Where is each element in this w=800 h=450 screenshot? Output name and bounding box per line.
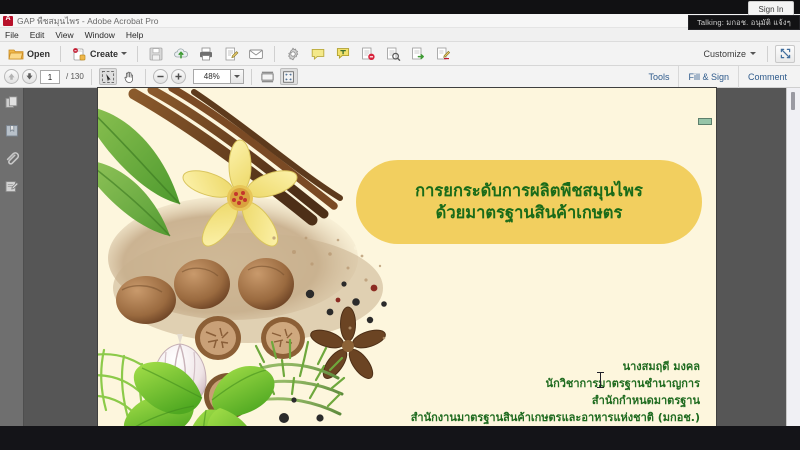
page-total-label: / 130	[66, 72, 84, 81]
search-redact-button[interactable]	[382, 44, 404, 64]
slide-title-line-1: การยกระดับการผลิตพืชสมุนไพร	[415, 182, 643, 201]
fit-width-button[interactable]	[259, 68, 277, 85]
window-title: GAP พืชสมุนไพร - Adobe Acrobat Pro	[17, 14, 158, 28]
tools-pane-button[interactable]: Tools	[639, 66, 678, 88]
create-pdf-icon	[71, 46, 87, 62]
os-top-bar	[0, 0, 800, 14]
select-tool-button[interactable]	[99, 68, 117, 85]
scrollbar-thumb[interactable]	[791, 92, 795, 110]
acrobat-body: การยกระดับการผลิตพืชสมุนไพร ด้วยมาตรฐานส…	[0, 88, 800, 426]
customize-label: Customize	[703, 49, 746, 59]
minus-icon	[156, 72, 165, 81]
next-page-button[interactable]	[22, 69, 37, 84]
bookmarks-icon[interactable]	[4, 123, 20, 139]
page-navigation-toolbar: 1 / 130	[0, 66, 800, 88]
folder-open-icon	[8, 46, 24, 62]
menu-item-file[interactable]: File	[5, 30, 19, 40]
fit-page-width-icon	[260, 70, 275, 84]
attachments-icon[interactable]	[4, 151, 20, 167]
stamp-icon	[360, 46, 376, 62]
export-button[interactable]	[407, 44, 429, 64]
edit-pdf-icon	[223, 46, 239, 62]
herbs-and-spices-illustration	[98, 88, 398, 436]
create-button[interactable]: Create	[68, 44, 130, 64]
hand-icon	[122, 70, 136, 84]
author-organization: สำนักงานมาตรฐานสินค้าเกษตรและอาหารแห่งชา…	[411, 409, 700, 426]
comment-pane-button[interactable]: Comment	[738, 66, 796, 88]
settings-button[interactable]	[282, 44, 304, 64]
create-button-label: Create	[90, 49, 118, 59]
author-name: นางสมฤดี มงคล	[411, 358, 700, 375]
toolbar-separator	[767, 46, 768, 62]
toolbar-separator	[251, 69, 252, 85]
email-button[interactable]	[245, 44, 267, 64]
comment-bubble-button[interactable]	[307, 44, 329, 64]
highlight-text-button[interactable]	[332, 44, 354, 64]
fit-page-button[interactable]	[280, 68, 298, 85]
zoom-in-button[interactable]	[171, 69, 186, 84]
navigation-pane	[0, 88, 24, 426]
chevron-down-icon	[750, 52, 756, 55]
stamp-button[interactable]	[357, 44, 379, 64]
search-redact-icon	[385, 46, 401, 62]
chevron-down-icon	[121, 52, 127, 55]
menu-bar: File Edit View Window Help	[0, 28, 800, 42]
hand-tool-button[interactable]	[120, 68, 138, 85]
open-button[interactable]: Open	[5, 44, 53, 64]
sign-icon	[435, 46, 451, 62]
vertical-scrollbar[interactable]	[786, 88, 800, 426]
menu-item-view[interactable]: View	[55, 30, 73, 40]
zoom-out-button[interactable]	[153, 69, 168, 84]
plus-icon	[174, 72, 183, 81]
page-number-input[interactable]: 1	[40, 70, 60, 84]
author-position: นักวิชาการมาตรฐานชำนาญการ	[411, 375, 700, 392]
toolbar-separator	[274, 46, 275, 62]
page-thumbnails-icon[interactable]	[4, 95, 20, 111]
highlight-text-icon	[335, 46, 351, 62]
toolbar-separator	[137, 46, 138, 62]
author-department: สำนักกำหนดมาตรฐาน	[411, 392, 700, 409]
pdf-page: การยกระดับการผลิตพืชสมุนไพร ด้วยมาตรฐานส…	[98, 88, 716, 436]
menu-item-help[interactable]: Help	[126, 30, 143, 40]
screen-root: Sign In Talking: มกอช. อนุมัติ แจ้งๆ GAP…	[0, 0, 800, 450]
fill-and-sign-pane-button[interactable]: Fill & Sign	[678, 66, 738, 88]
toolbar-separator	[60, 46, 61, 62]
main-toolbar: Open Create	[0, 42, 800, 66]
fit-whole-page-icon	[281, 70, 296, 84]
previous-page-button[interactable]	[4, 69, 19, 84]
menu-item-edit[interactable]: Edit	[30, 30, 45, 40]
save-button[interactable]	[145, 44, 167, 64]
expand-toolbar-button[interactable]	[775, 45, 795, 63]
comment-bubble-icon	[310, 46, 326, 62]
slide-title-plate: การยกระดับการผลิตพืชสมุนไพร ด้วยมาตรฐานส…	[356, 160, 702, 244]
acrobat-window: GAP พืชสมุนไพร - Adobe Acrobat Pro File …	[0, 14, 800, 426]
slide-author-block: นางสมฤดี มงคล นักวิชาการมาตรฐานชำนาญการ …	[411, 358, 700, 426]
signatures-icon[interactable]	[4, 179, 20, 195]
menu-item-window[interactable]: Window	[85, 30, 115, 40]
acrobat-logo-icon	[3, 16, 13, 26]
zoom-dropdown-button[interactable]	[231, 69, 244, 84]
arrow-down-icon	[25, 72, 34, 81]
cloud-upload-icon	[173, 46, 189, 62]
save-icon	[148, 46, 164, 62]
chevron-down-icon	[234, 75, 240, 78]
page-edge-marker	[698, 118, 712, 125]
os-bottom-bar	[0, 426, 800, 450]
talking-status-tooltip: Talking: มกอช. อนุมัติ แจ้งๆ	[688, 15, 800, 30]
zoom-level-input[interactable]: 48%	[193, 69, 231, 84]
edit-pdf-button[interactable]	[220, 44, 242, 64]
toolbar-separator	[91, 69, 92, 85]
gear-icon	[285, 46, 301, 62]
toolbar-separator	[145, 69, 146, 85]
sign-button[interactable]	[432, 44, 454, 64]
document-canvas[interactable]: การยกระดับการผลิตพืชสมุนไพร ด้วยมาตรฐานส…	[24, 88, 800, 426]
email-icon	[248, 46, 264, 62]
text-cursor	[597, 372, 604, 388]
customize-dropdown[interactable]: Customize	[703, 49, 760, 59]
print-icon	[198, 46, 214, 62]
select-cursor-icon	[101, 70, 115, 84]
arrow-up-icon	[7, 72, 16, 81]
print-button[interactable]	[195, 44, 217, 64]
cloud-upload-button[interactable]	[170, 44, 192, 64]
right-task-panes: Tools Fill & Sign Comment	[639, 66, 796, 88]
expand-arrows-icon	[780, 48, 791, 59]
export-icon	[410, 46, 426, 62]
open-button-label: Open	[27, 49, 50, 59]
slide-title-line-2: ด้วยมาตรฐานสินค้าเกษตร	[436, 204, 623, 223]
title-bar: GAP พืชสมุนไพร - Adobe Acrobat Pro	[0, 14, 800, 28]
